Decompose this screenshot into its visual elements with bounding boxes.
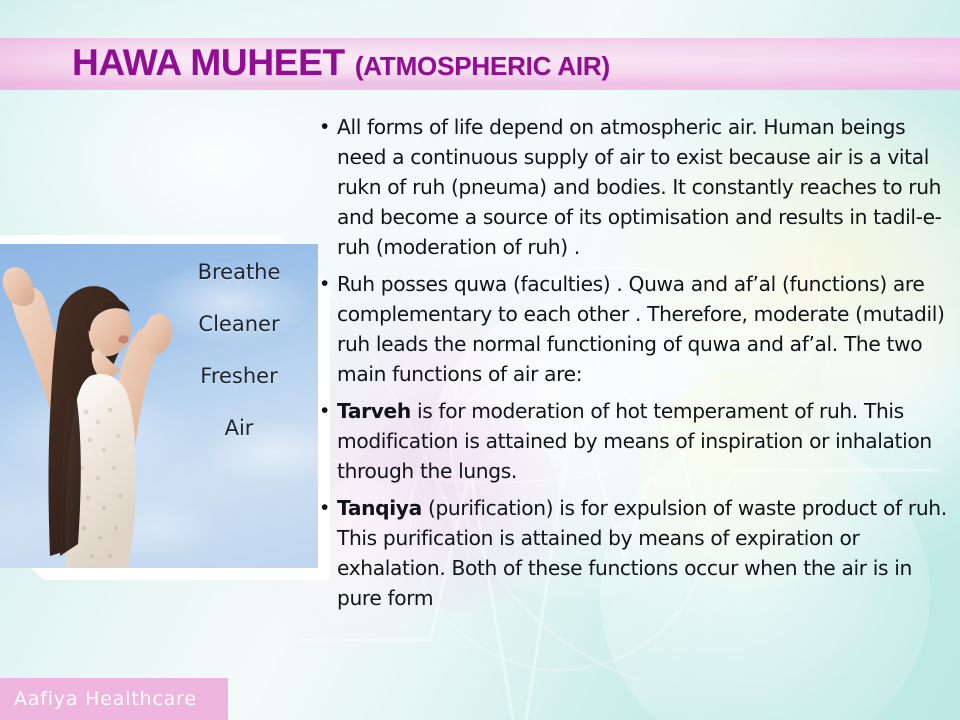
bullet-marker: • bbox=[318, 396, 337, 426]
slide-title: HAWA MUHEET (ATMOSPHERIC AIR) bbox=[72, 42, 610, 84]
bullet-text: All forms of life depend on atmospheric … bbox=[337, 112, 950, 262]
image-content: Breathe Cleaner Fresher Air bbox=[0, 244, 318, 568]
title-main-text: HAWA MUHEET bbox=[72, 42, 355, 83]
bullet-text: Ruh posses quwa (faculties) . Quwa and a… bbox=[337, 269, 950, 389]
image-caption: Breathe Cleaner Fresher Air bbox=[174, 262, 304, 439]
bullet-body-text: All forms of life depend on atmospheric … bbox=[337, 115, 942, 259]
bullet-text: Tarveh is for moderation of hot temperam… bbox=[337, 396, 950, 486]
brand-footer: Aafiya Healthcare bbox=[0, 678, 228, 720]
bullet-item: • All forms of life depend on atmospheri… bbox=[318, 112, 950, 262]
bullet-text: Tanqiya (purification) is for expulsion … bbox=[337, 493, 950, 613]
bullet-marker: • bbox=[318, 493, 337, 523]
presentation-slide: HAWA MUHEET (ATMOSPHERIC AIR) bbox=[0, 0, 960, 720]
bullet-lead: Tarveh bbox=[337, 399, 411, 423]
caption-line: Cleaner bbox=[174, 314, 304, 335]
bullet-marker: • bbox=[318, 269, 337, 299]
bullet-item: • Tanqiya (purification) is for expulsio… bbox=[318, 493, 950, 613]
title-subtitle-text: (ATMOSPHERIC AIR) bbox=[355, 51, 610, 81]
bullet-body-text: Ruh posses quwa (faculties) . Quwa and a… bbox=[337, 272, 945, 386]
slide-body-content: • All forms of life depend on atmospheri… bbox=[318, 112, 950, 620]
slide-image: Breathe Cleaner Fresher Air bbox=[0, 235, 330, 580]
bullet-item: • Tarveh is for moderation of hot temper… bbox=[318, 396, 950, 486]
bullet-body-text: (purification) is for expulsion of waste… bbox=[337, 496, 947, 610]
caption-line: Breathe bbox=[174, 262, 304, 283]
bullet-item: • Ruh posses quwa (faculties) . Quwa and… bbox=[318, 269, 950, 389]
caption-line: Air bbox=[174, 418, 304, 439]
bullet-marker: • bbox=[318, 112, 337, 142]
brand-name: Aafiya Healthcare bbox=[0, 688, 197, 710]
bullet-body-text: is for moderation of hot temperament of … bbox=[337, 399, 932, 483]
bullet-lead: Tanqiya bbox=[337, 496, 422, 520]
caption-line: Fresher bbox=[174, 366, 304, 387]
